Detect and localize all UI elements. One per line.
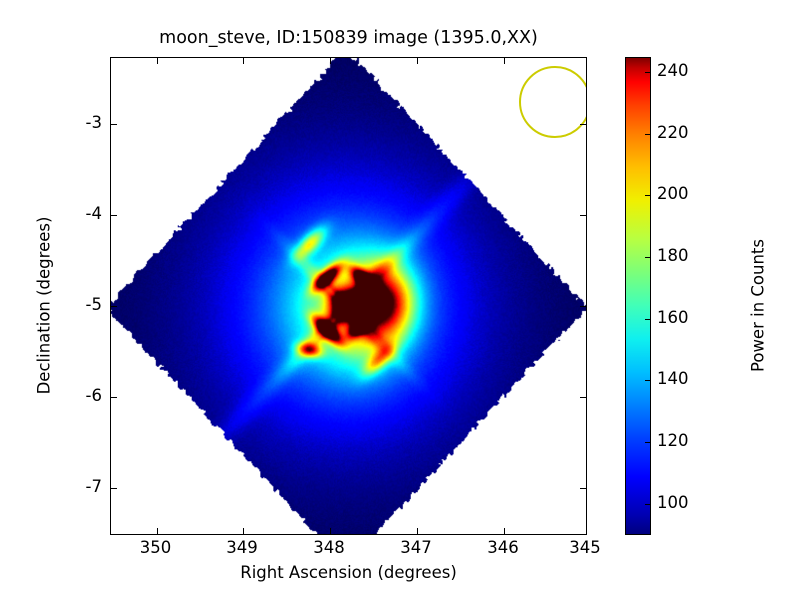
page-title: moon_steve, ID:150839 image (1395.0,XX) [110,28,587,48]
x-tick-top [586,58,587,64]
x-tick [330,528,331,534]
x-ticklabel: 346 [487,539,519,557]
x-tick [586,528,587,534]
colorbar-ticklabel: 140 [657,370,689,388]
colorbar-ticklabel: 240 [657,62,689,80]
x-tick [157,528,158,534]
image-plot-axes[interactable] [110,57,587,535]
y-tick-right [580,488,586,489]
colorbar-ticklabel: 100 [657,494,689,512]
colorbar-tick [645,504,650,505]
y-tick [111,488,117,489]
x-ticklabel: 345 [569,539,601,557]
colorbar-ticklabel: 220 [657,124,689,142]
colorbar-ticklabel: 180 [657,247,689,265]
x-ticklabel: 350 [140,539,172,557]
x-tick-top [504,58,505,64]
x-tick-top [417,58,418,64]
x-ticklabel: 347 [400,539,432,557]
colorbar-tick [645,442,650,443]
y-ticklabel: -7 [0,478,102,496]
x-ticklabel: 348 [313,539,345,557]
colorbar-ticklabel: 120 [657,432,689,450]
x-tick-top [157,58,158,64]
x-tick [243,528,244,534]
colorbar-gradient [626,58,650,534]
y-tick-right [580,397,586,398]
colorbar-tick [645,319,650,320]
y-tick [111,306,117,307]
colorbar-label: Power in Counts [749,176,768,436]
x-tick [417,528,418,534]
colorbar-ticklabel: 200 [657,185,689,203]
colorbar-tick [645,72,650,73]
colorbar-tick [645,257,650,258]
y-tick-right [580,215,586,216]
colorbar[interactable] [625,57,651,535]
beam-size-circle-icon [519,66,587,138]
y-tick-right [580,306,586,307]
x-axis-label: Right Ascension (degrees) [110,563,587,582]
colorbar-ticklabel: 160 [657,309,689,327]
figure-canvas: moon_steve, ID:150839 image (1395.0,XX) … [0,0,800,600]
y-tick [111,124,117,125]
sky-image-heatmap [111,58,586,534]
colorbar-tick [645,195,650,196]
x-tick [504,528,505,534]
y-tick [111,397,117,398]
colorbar-tick [645,380,650,381]
y-ticklabel: -3 [0,114,102,132]
x-tick-top [243,58,244,64]
y-tick [111,215,117,216]
y-tick-right [580,124,586,125]
colorbar-tick [645,134,650,135]
x-tick-top [330,58,331,64]
y-axis-label: Declination (degrees) [35,206,54,406]
x-ticklabel: 349 [226,539,258,557]
